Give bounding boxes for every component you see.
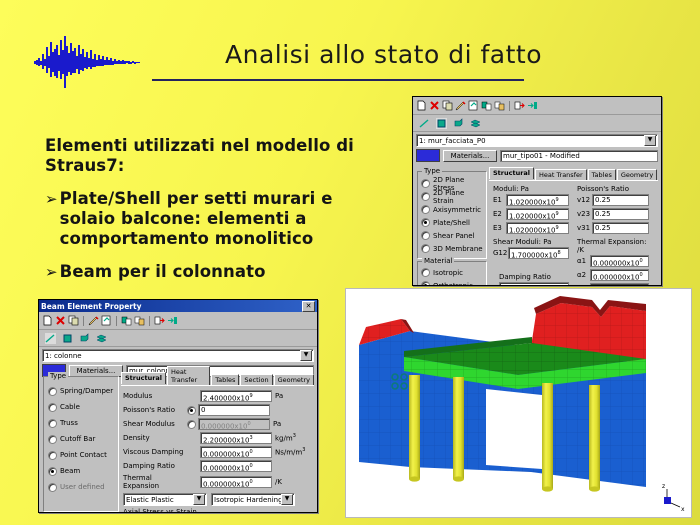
- modulus-field[interactable]: 2.400000x109: [200, 390, 272, 402]
- brick-element-icon[interactable]: [79, 333, 90, 344]
- refresh-icon[interactable]: [468, 100, 479, 111]
- straus7-3d-model-viewport[interactable]: z x: [345, 288, 692, 518]
- radio-label: Cutoff Bar: [60, 435, 95, 443]
- radio-label: Beam: [60, 467, 80, 475]
- export-icon[interactable]: [527, 100, 538, 111]
- row-poissons-ratio: Poisson's Ratio 0: [123, 404, 314, 416]
- thermal-expansion-field[interactable]: 0.000000x100: [200, 476, 272, 488]
- g12-field[interactable]: 1.700000x108: [508, 247, 569, 259]
- export-icon[interactable]: [167, 315, 178, 326]
- viscous-damping-unit: Ns/m/m3: [275, 447, 305, 456]
- delete-icon[interactable]: [55, 315, 66, 326]
- radio-icon[interactable]: [188, 421, 195, 428]
- alpha3-label: α3: [577, 285, 588, 286]
- radio-isotropic[interactable]: Isotropic: [422, 266, 486, 279]
- modulus-unit: Pa: [275, 392, 283, 400]
- layers-icon[interactable]: [470, 118, 481, 129]
- color-swatch[interactable]: [416, 149, 440, 162]
- line-element-icon[interactable]: [419, 118, 430, 129]
- seismograph-waveform-icon: [34, 36, 152, 88]
- refresh-icon[interactable]: [101, 315, 112, 326]
- v23-label: v23: [577, 210, 590, 218]
- material-group: Material Isotropic Orthotropic Anisotrop…: [417, 261, 487, 286]
- svg-text:z: z: [662, 483, 665, 490]
- column-3-base: [542, 486, 553, 491]
- density-field[interactable]: 2.200000x103: [200, 432, 272, 444]
- radio-icon[interactable]: [422, 282, 429, 286]
- toolbar-separator: [83, 316, 84, 326]
- axis-triad-icon: z x: [662, 483, 685, 513]
- viscous-damping-label: Viscous Damping: [123, 448, 185, 456]
- radio-label: User defined: [60, 483, 105, 491]
- toolbar-separator: [509, 101, 510, 111]
- damping-ratio-field[interactable]: 0.000000x100: [200, 460, 272, 472]
- row-damping-ratio: Damping Ratio 0.000000x100: [123, 460, 314, 472]
- bullet-plate-shell: ➢ Plate/Shell per setti murari e solaio …: [45, 189, 365, 249]
- brick-element-icon[interactable]: [453, 118, 464, 129]
- type-group: Type Spring/Damper Cable Truss Cutoff Ba…: [43, 376, 119, 512]
- chevron-down-icon[interactable]: ▼: [281, 494, 293, 505]
- g12-label: G12: [493, 249, 506, 257]
- property-selector-combo[interactable]: 1: mur_facciata_P0 ▼: [416, 134, 658, 147]
- density-label: Density: [123, 434, 185, 442]
- shear-modulus-field[interactable]: 0.000000x100: [198, 418, 270, 430]
- copy-2-icon[interactable]: [481, 100, 492, 111]
- paragraph-intro: Elementi utilizzati nel modello di Strau…: [45, 136, 365, 176]
- copy-3-icon[interactable]: [134, 315, 145, 326]
- type-group-label: Type: [422, 167, 442, 175]
- copy-2-icon[interactable]: [121, 315, 132, 326]
- e2-field[interactable]: 1.020000x109: [506, 208, 569, 220]
- plate-element-icon[interactable]: [436, 118, 447, 129]
- radio-icon[interactable]: [49, 452, 56, 459]
- chevron-bullet-icon: ➢: [45, 262, 58, 282]
- shear-modulus-label: Shear Modulus: [123, 420, 185, 428]
- paragraph-text: Beam per il colonnato: [60, 262, 266, 282]
- row-thermal-expansion: Thermal Expansion 0.000000x100 /K: [123, 474, 314, 490]
- alpha2-field[interactable]: 0.000000x100: [590, 269, 649, 281]
- paragraph-text: Elementi utilizzati nel modello di Strau…: [45, 136, 354, 175]
- material-name-field[interactable]: mur_tipo01 - Modified: [500, 150, 658, 162]
- radio-icon[interactable]: [422, 206, 429, 213]
- radio-plate-shell[interactable]: Plate/Shell: [422, 216, 486, 229]
- plate-tabs[interactable]: Structural Heat Transfer Tables Geometry: [489, 169, 658, 181]
- alpha3-field[interactable]: 0.000000x100: [590, 283, 649, 286]
- tab-geometry[interactable]: Geometry: [617, 169, 657, 180]
- alpha1-label: α1: [577, 257, 588, 265]
- import-icon[interactable]: [154, 315, 165, 326]
- wall-opening: [486, 389, 542, 469]
- column-2: [453, 377, 464, 479]
- row-shear-modulus: Shear Modulus 0.000000x100 Pa: [123, 418, 314, 430]
- fem-model-render: z x: [346, 289, 691, 517]
- copy-icon[interactable]: [442, 100, 453, 111]
- beam-element-type-toolbar[interactable]: [39, 330, 317, 347]
- hardening-model-combo[interactable]: Isotropic Hardening ▼: [211, 493, 295, 506]
- radio-icon[interactable]: [49, 468, 56, 475]
- radio-icon[interactable]: [49, 388, 56, 395]
- new-icon[interactable]: [42, 315, 53, 326]
- svg-text:x: x: [681, 506, 685, 513]
- chevron-down-icon[interactable]: ▼: [300, 350, 312, 361]
- damping-ratio-field[interactable]: 0.000000x100: [499, 282, 569, 286]
- plate-shell-element-property-dialog[interactable]: 1: mur_facciata_P0 ▼ Materials... mur_ti…: [412, 96, 662, 286]
- import-icon[interactable]: [514, 100, 525, 111]
- line-element-icon[interactable]: [45, 333, 56, 344]
- new-icon[interactable]: [416, 100, 427, 111]
- tab-section[interactable]: Section: [240, 374, 272, 385]
- property-selector-value: 1: mur_facciata_P0: [419, 137, 486, 145]
- paragraph-text: Plate/Shell per setti murari e solaio ba…: [60, 189, 365, 249]
- materials-button[interactable]: Materials...: [443, 150, 497, 162]
- radio-beam[interactable]: Beam: [49, 463, 118, 479]
- row-modulus: Modulus 2.400000x109 Pa: [123, 390, 314, 402]
- v12-label: v12: [577, 196, 590, 204]
- hardening-model-value: Isotropic Hardening: [214, 496, 283, 504]
- poissons-ratio-field[interactable]: 0: [198, 404, 270, 416]
- thermal-expansion-label: Thermal Expansion: /K: [577, 238, 649, 254]
- modulus-label: Modulus: [123, 392, 185, 400]
- e2-label: E2: [493, 210, 504, 218]
- chevron-bullet-icon: ➢: [45, 189, 58, 249]
- v23-field[interactable]: 0.25: [592, 208, 649, 220]
- poisson-ratio-label: Poisson's Ratio: [577, 185, 649, 193]
- radio-icon[interactable]: [49, 420, 56, 427]
- edit-pen-icon[interactable]: [88, 315, 99, 326]
- close-icon[interactable]: ✕: [302, 301, 315, 312]
- radio-label: Orthotropic: [433, 282, 473, 287]
- damping-ratio-label: Damping Ratio: [493, 273, 569, 281]
- radio-label: 2D Plane Strain: [433, 189, 486, 205]
- slide-canvas: Analisi allo stato di fatto Elementi uti…: [0, 0, 700, 525]
- radio-point-contact[interactable]: Point Contact: [49, 447, 118, 463]
- radio-icon[interactable]: [422, 193, 429, 200]
- v31-field[interactable]: 0.25: [592, 222, 649, 234]
- toolbar-separator: [116, 316, 117, 326]
- radio-label: Point Contact: [60, 451, 107, 459]
- radio-orthotropic[interactable]: Orthotropic: [422, 279, 486, 286]
- radio-cable[interactable]: Cable: [49, 399, 118, 415]
- radio-label: Truss: [60, 419, 78, 427]
- radio-shear-panel[interactable]: Shear Panel: [422, 229, 486, 242]
- tab-structural[interactable]: Structural: [121, 372, 166, 384]
- radio-axisymmetric[interactable]: Axisymmetric: [422, 203, 486, 216]
- damping-ratio-label: Damping Ratio: [123, 462, 185, 470]
- plate-element-icon[interactable]: [62, 333, 73, 344]
- radio-cutoff-bar[interactable]: Cutoff Bar: [49, 431, 118, 447]
- chevron-down-icon[interactable]: ▼: [193, 494, 205, 505]
- tab-structural[interactable]: Structural: [489, 167, 534, 179]
- materials-button[interactable]: Materials...: [69, 365, 123, 377]
- row-density: Density 2.200000x103 kg/m3: [123, 432, 314, 444]
- title-divider: [152, 79, 524, 81]
- tab-heat-transfer[interactable]: Heat Transfer: [535, 169, 587, 180]
- radio-label: Spring/Damper: [60, 387, 113, 395]
- wall-left-face: [359, 331, 410, 467]
- e1-label: E1: [493, 196, 504, 204]
- column-3: [542, 383, 553, 489]
- radio-icon[interactable]: [188, 407, 195, 414]
- radio-icon[interactable]: [422, 232, 429, 239]
- radio-icon[interactable]: [49, 436, 56, 443]
- moduli-label: Moduli: Pa: [493, 185, 569, 193]
- radio-truss[interactable]: Truss: [49, 415, 118, 431]
- type-group: Type 2D Plane Stress 2D Plane Strain Axi…: [417, 171, 487, 259]
- tab-tables[interactable]: Tables: [588, 169, 616, 180]
- column-4: [589, 385, 600, 489]
- radio-icon[interactable]: [49, 484, 56, 491]
- radio-icon[interactable]: [422, 180, 429, 187]
- thermal-expansion-label: Thermal Expansion: [123, 474, 185, 490]
- delete-icon[interactable]: [429, 100, 440, 111]
- poissons-ratio-label: Poisson's Ratio: [123, 406, 185, 414]
- tab-tables[interactable]: Tables: [211, 374, 239, 385]
- tab-geometry[interactable]: Geometry: [274, 374, 314, 385]
- row-viscous-damping: Viscous Damping 0.000000x100 Ns/m/m3: [123, 446, 314, 458]
- copy-3-icon[interactable]: [494, 100, 505, 111]
- material-model-value: Elastic Plastic: [126, 496, 174, 504]
- radio-user-defined[interactable]: User defined: [49, 479, 118, 495]
- beam-element-property-dialog[interactable]: Beam Element Property ✕ 1: colonne ▼: [38, 299, 318, 513]
- radio-icon[interactable]: [422, 219, 429, 226]
- type-group-label: Type: [48, 372, 68, 380]
- density-unit: kg/m3: [275, 433, 296, 442]
- viscous-damping-field[interactable]: 0.000000x100: [200, 446, 272, 458]
- beam-dialog-titlebar[interactable]: Beam Element Property ✕: [39, 300, 317, 312]
- column-4-base: [589, 486, 600, 491]
- radio-icon[interactable]: [422, 245, 429, 252]
- radio-icon[interactable]: [49, 404, 56, 411]
- material-group-label: Material: [422, 257, 454, 265]
- radio-label: Plate/Shell: [433, 219, 470, 227]
- material-model-combo[interactable]: Elastic Plastic ▼: [123, 493, 207, 506]
- v31-label: v31: [577, 224, 590, 232]
- radio-spring-damper[interactable]: Spring/Damper: [49, 383, 118, 399]
- radio-label: 3D Membrane: [433, 245, 483, 253]
- v12-field[interactable]: 0.25: [592, 194, 649, 206]
- beam-dialog-title: Beam Element Property: [41, 302, 142, 311]
- tab-heat-transfer[interactable]: Heat Transfer: [167, 366, 210, 385]
- shear-moduli-label: Shear Moduli: Pa: [493, 238, 569, 246]
- property-selector-combo[interactable]: 1: colonne ▼: [42, 349, 314, 362]
- layers-icon[interactable]: [96, 333, 107, 344]
- radio-3d-membrane[interactable]: 3D Membrane: [422, 242, 486, 255]
- e1-field[interactable]: 1.020000x109: [506, 194, 569, 206]
- body-text-block: Elementi utilizzati nel modello di Strau…: [45, 136, 365, 295]
- beam-tabs[interactable]: Structural Heat Transfer Tables Section …: [121, 374, 314, 386]
- page-title: Analisi allo stato di fatto: [225, 40, 655, 69]
- radio-label: Axisymmetric: [433, 206, 481, 214]
- alpha2-label: α2: [577, 271, 588, 279]
- beam-toolbar[interactable]: [39, 312, 317, 330]
- column-2-base: [453, 476, 464, 481]
- plate-element-type-toolbar[interactable]: [413, 115, 661, 132]
- edit-pen-icon[interactable]: [455, 100, 466, 111]
- chevron-down-icon[interactable]: ▼: [644, 135, 656, 146]
- e3-label: E3: [493, 224, 504, 232]
- property-selector-value: 1: colonne: [45, 352, 82, 360]
- shear-modulus-unit: Pa: [273, 420, 281, 428]
- toolbar-separator: [149, 316, 150, 326]
- column-1: [409, 375, 420, 479]
- axial-stress-vs-strain-label: Axial Stress vs Strain: [123, 508, 314, 513]
- radio-2d-plane-strain[interactable]: 2D Plane Strain: [422, 190, 486, 203]
- radio-icon[interactable]: [422, 269, 429, 276]
- radio-label: Isotropic: [433, 269, 463, 277]
- radio-label: Cable: [60, 403, 80, 411]
- bullet-beam: ➢ Beam per il colonnato: [45, 262, 365, 282]
- plate-toolbar[interactable]: [413, 97, 661, 115]
- column-1-base: [409, 476, 420, 481]
- radio-label: Shear Panel: [433, 232, 474, 240]
- thermal-expansion-unit: /K: [275, 478, 282, 486]
- e3-field[interactable]: 1.020000x109: [506, 222, 569, 234]
- alpha1-field[interactable]: 0.000000x100: [590, 255, 649, 267]
- copy-icon[interactable]: [68, 315, 79, 326]
